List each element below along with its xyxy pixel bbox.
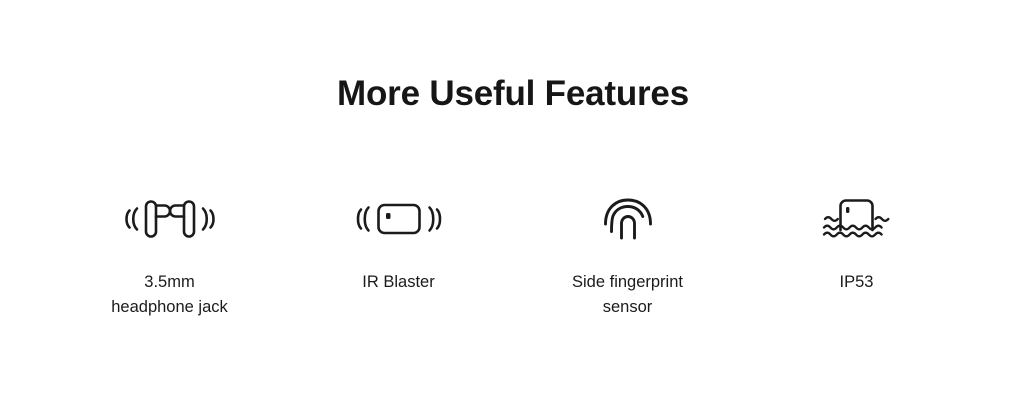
feature-label: Side fingerprint sensor [572,270,683,320]
water-resistance-icon [820,190,894,248]
earbuds-sound-icon [117,190,223,248]
feature-item-ir-blaster: IR Blaster [284,190,513,295]
feature-item-ip-rating: IP53 [742,190,971,295]
ir-blaster-icon [351,190,447,248]
feature-item-fingerprint: Side fingerprint sensor [513,190,742,320]
fingerprint-icon [602,190,654,248]
page-title: More Useful Features [0,72,1026,116]
feature-highlights-section: More Useful Features [0,0,1026,407]
feature-label-line1: Side fingerprint [572,270,683,295]
feature-label: IP53 [840,270,874,295]
feature-label-line1: IR Blaster [362,270,434,295]
feature-label-line2: headphone jack [111,295,228,320]
feature-label-line1: 3.5mm [111,270,228,295]
feature-label-line2: sensor [572,295,683,320]
feature-item-headphone-jack: 3.5mm headphone jack [55,190,284,320]
feature-label: IR Blaster [362,270,434,295]
feature-list: 3.5mm headphone jack [55,190,971,320]
feature-label: 3.5mm headphone jack [111,270,228,320]
feature-label-line1: IP53 [840,270,874,295]
